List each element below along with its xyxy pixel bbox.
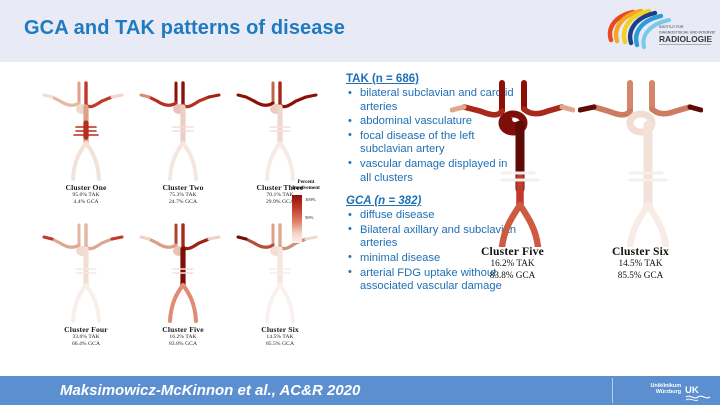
cluster-figure-grid: Cluster One 95.6% TAK 4.4% GCA — [40, 75, 330, 365]
uk-mark-text: UK — [685, 385, 699, 396]
cluster-name: Cluster One — [40, 183, 132, 192]
legend-title-line1: Percent — [298, 179, 315, 185]
large-figure-cluster-five: Cluster Five 16.2% TAK 83.8% GCA — [450, 77, 575, 282]
uk-logo-mark: UK — [685, 382, 711, 407]
cluster-gca-pct: 85.5% GCA — [234, 341, 326, 348]
cluster-gca-pct: 85.5% GCA — [578, 270, 703, 282]
cluster-name: Cluster Two — [137, 183, 229, 192]
legend-tick-max: 100% — [305, 197, 316, 202]
arterial-diagram-cluster-five-small — [137, 217, 229, 325]
legend-tick-mid: 50% — [305, 215, 313, 220]
cluster-caption: Cluster Four 33.6% TAK 66.4% GCA — [40, 325, 132, 348]
cluster-cell: Cluster Four 33.6% TAK 66.4% GCA — [40, 217, 132, 357]
cluster-name: Cluster Five — [137, 325, 229, 334]
cluster-name: Cluster Five — [450, 245, 575, 258]
uniklinikum-wuerzburg-logo: Uniklinikum Würzburg UK — [627, 382, 713, 402]
cluster-gca-pct: 66.4% GCA — [40, 341, 132, 348]
cluster-tak-pct: 14.5% TAK — [578, 258, 703, 270]
cluster-caption: Cluster One 95.6% TAK 4.4% GCA — [40, 183, 132, 206]
cluster-gca-pct: 4.4% GCA — [40, 199, 132, 206]
large-cluster-caption: Cluster Six 14.5% TAK 85.5% GCA — [578, 245, 703, 281]
legend-title: Percent Involvement — [283, 179, 329, 192]
logo-line3: RADIOLOGIE — [659, 34, 712, 44]
arterial-diagram-cluster-six-large — [578, 77, 703, 247]
cluster-name: Cluster Four — [40, 325, 132, 334]
large-figure-cluster-six: Cluster Six 14.5% TAK 85.5% GCA — [578, 77, 703, 282]
arterial-diagram-cluster-two — [137, 75, 229, 183]
cluster-tak-pct: 16.2% TAK — [137, 334, 229, 341]
cluster-caption: Cluster Five 16.2% TAK 83.8% GCA — [137, 325, 229, 348]
cluster-tak-pct: 14.5% TAK — [234, 334, 326, 341]
logo-line1: INSTITUT FÜR — [659, 25, 684, 29]
arterial-diagram-cluster-five-large — [450, 77, 575, 247]
institut-radiologie-logo: INSTITUT FÜR DIAGNOSTISCHE UND INTERVENT… — [603, 6, 715, 56]
slide-body: Cluster One 95.6% TAK 4.4% GCA — [0, 65, 720, 372]
legend-gradient-bar — [292, 195, 302, 243]
cluster-name: Cluster Six — [578, 245, 703, 258]
cluster-caption: Cluster Six 14.5% TAK 85.5% GCA — [234, 325, 326, 348]
slide-footer: Maksimowicz-McKinnon et al., AC&R 2020 U… — [0, 376, 720, 405]
cluster-tak-pct: 95.6% TAK — [40, 192, 132, 199]
cluster-cell: Cluster One 95.6% TAK 4.4% GCA — [40, 75, 132, 215]
large-cluster-caption: Cluster Five 16.2% TAK 83.8% GCA — [450, 245, 575, 281]
arterial-diagram-cluster-three — [234, 75, 326, 183]
page-title: GCA and TAK patterns of disease — [24, 17, 345, 40]
cluster-tak-pct: 16.2% TAK — [450, 258, 575, 270]
legend-title-line2: Involvement — [292, 185, 320, 191]
cluster-caption: Cluster Two 75.3% TAK 24.7% GCA — [137, 183, 229, 206]
cluster-name: Cluster Six — [234, 325, 326, 334]
uk-logo-line2: Würzburg — [656, 389, 681, 395]
slide-header: GCA and TAK patterns of disease INSTITUT… — [0, 0, 720, 62]
percent-involvement-legend: Percent Involvement 100% 50% — [283, 179, 329, 243]
cluster-tak-pct: 75.3% TAK — [137, 192, 229, 199]
cluster-tak-pct: 33.6% TAK — [40, 334, 132, 341]
uk-logo-name: Uniklinikum Würzburg — [627, 383, 681, 396]
arterial-diagram-cluster-four — [40, 217, 132, 325]
footer-divider — [612, 378, 613, 403]
citation-text: Maksimowicz-McKinnon et al., AC&R 2020 — [60, 382, 360, 399]
cluster-gca-pct: 24.7% GCA — [137, 199, 229, 206]
cluster-cell: Cluster Five 16.2% TAK 83.8% GCA — [137, 217, 229, 357]
cluster-cell: Cluster Two 75.3% TAK 24.7% GCA — [137, 75, 229, 215]
uk-logo-line1: Uniklinikum — [650, 383, 681, 389]
cluster-gca-pct: 83.8% GCA — [450, 270, 575, 282]
cluster-gca-pct: 83.8% GCA — [137, 341, 229, 348]
arterial-diagram-cluster-one — [40, 75, 132, 183]
